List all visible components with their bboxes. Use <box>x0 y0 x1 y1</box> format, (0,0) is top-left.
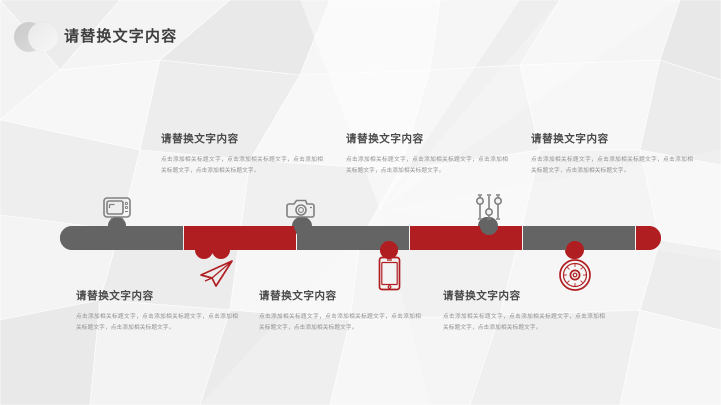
info-block-title: 请替换文字内容 <box>76 288 238 303</box>
page-title: 请替换文字内容 <box>64 25 177 46</box>
info-block-description: 点击添加相关标题文字，点击添加相关标题文字，点击添加相关标题文字，点击添加相关标… <box>76 312 238 334</box>
info-block-top-2: 请替换文字内容 点击添加相关标题文字，点击添加相关标题文字，点击添加相关标题文字… <box>346 131 508 177</box>
info-block-description: 点击添加相关标题文字，点击添加相关标题文字，点击添加相关标题文字，点击添加相关标… <box>443 312 605 334</box>
info-block-title: 请替换文字内容 <box>259 288 421 303</box>
info-block-bottom-1: 请替换文字内容 点击添加相关标题文字，点击添加相关标题文字，点击添加相关标题文字… <box>76 288 238 334</box>
smartphone-icon <box>380 258 400 290</box>
info-block-title: 请替换文字内容 <box>531 131 693 146</box>
decor-circle-front-icon <box>28 22 58 52</box>
cd-disc-icon <box>560 260 590 290</box>
info-block-description: 点击添加相关标题文字，点击添加相关标题文字，点击添加相关标题文字，点击添加相关标… <box>259 312 421 334</box>
paper-plane-icon <box>201 261 232 286</box>
info-block-title: 请替换文字内容 <box>346 131 508 146</box>
slide-header: 请替换文字内容 <box>0 14 721 54</box>
timeline-bar <box>0 186 721 296</box>
tv-icon <box>104 198 130 221</box>
info-block-title: 请替换文字内容 <box>161 131 323 146</box>
info-block-title: 请替换文字内容 <box>443 288 605 303</box>
info-block-bottom-3: 请替换文字内容 点击添加相关标题文字，点击添加相关标题文字，点击添加相关标题文字… <box>443 288 605 334</box>
info-block-bottom-2: 请替换文字内容 点击添加相关标题文字，点击添加相关标题文字，点击添加相关标题文字… <box>259 288 421 334</box>
camera-icon <box>287 201 314 218</box>
info-block-description: 点击添加相关标题文字，点击添加相关标题文字，点击添加相关标题文字，点击添加相关标… <box>531 155 693 177</box>
info-block-top-3: 请替换文字内容 点击添加相关标题文字，点击添加相关标题文字，点击添加相关标题文字… <box>531 131 693 177</box>
info-block-top-1: 请替换文字内容 点击添加相关标题文字，点击添加相关标题文字，点击添加相关标题文字… <box>161 131 323 177</box>
presentation-slide: 请替换文字内容 <box>0 0 721 405</box>
info-block-description: 点击添加相关标题文字，点击添加相关标题文字，点击添加相关标题文字，点击添加相关标… <box>346 155 508 177</box>
equalizer-icon <box>477 195 501 219</box>
info-block-description: 点击添加相关标题文字，点击添加相关标题文字，点击添加相关标题文字，点击添加相关标… <box>161 155 323 177</box>
